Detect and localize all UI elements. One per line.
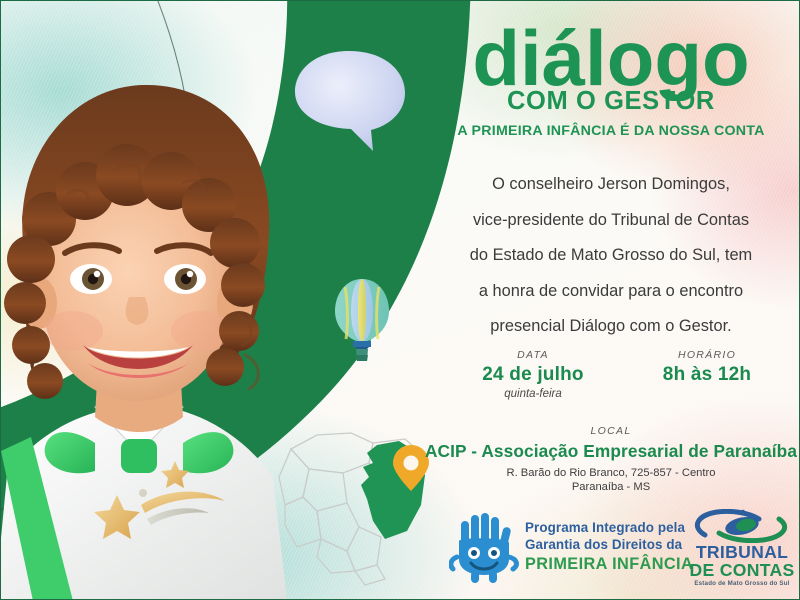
place-address-line2: Paranaíba - MS [421, 481, 800, 493]
title-tagline: A PRIMEIRA INFÂNCIA É DA NOSSA CONTA [421, 123, 800, 139]
event-place: LOCAL ACIP - Associação Empresarial de P… [421, 425, 800, 493]
body-line-3: do Estado de Mato Grosso do Sul, tem [423, 238, 799, 274]
tc-line-2: DE CONTAS [683, 561, 800, 579]
speech-bubble-icon [289, 45, 411, 153]
shooting-star-icon [53, 453, 243, 561]
blue-hand-mascot-icon [449, 513, 519, 583]
tc-emblem-icon [683, 509, 800, 543]
invitation-poster: diálogo COM O GESTOR A PRIMEIRA INFÂNCIA… [0, 0, 800, 600]
program-line-1: Programa Integrado pela [525, 519, 695, 536]
title-block: diálogo COM O GESTOR A PRIMEIRA INFÂNCIA… [421, 19, 800, 139]
body-line-2: vice-presidente do Tribunal de Contas [423, 203, 799, 239]
tc-line-3: Estado de Mato Grosso do Sul [683, 580, 800, 587]
primeira-infancia-logo: Programa Integrado pela Garantia dos Dir… [449, 511, 679, 585]
program-logo-text: Programa Integrado pela Garantia dos Dir… [525, 519, 695, 574]
tc-line-1: TRIBUNAL [683, 543, 800, 561]
body-line-5: presencial Diálogo com o Gestor. [423, 309, 799, 345]
tribunal-de-contas-logo: TRIBUNAL DE CONTAS Estado de Mato Grosso… [683, 509, 800, 585]
body-line-1: O conselheiro Jerson Domingos, [423, 167, 799, 203]
time-label: HORÁRIO [617, 349, 797, 361]
place-label: LOCAL [421, 425, 800, 437]
program-line-2: Garantia dos Direitos da [525, 536, 695, 553]
program-line-3: PRIMEIRA INFÂNCIA [525, 554, 695, 574]
date-weekday: quinta-feira [443, 388, 623, 400]
body-line-4: a honra de convidar para o encontro [423, 274, 799, 310]
event-date-block: DATA 24 de julho quinta-feira [443, 349, 623, 400]
date-value: 24 de julho [443, 364, 623, 386]
hot-air-balloon-icon [331, 277, 393, 363]
place-name: ACIP - Associação Empresarial de Paranaí… [421, 441, 800, 462]
time-value: 8h às 12h [617, 364, 797, 386]
footer-logos: Programa Integrado pela Garantia dos Dir… [421, 509, 800, 587]
date-label: DATA [443, 349, 623, 361]
content-column: diálogo COM O GESTOR A PRIMEIRA INFÂNCIA… [421, 1, 800, 600]
invitation-body: O conselheiro Jerson Domingos, vice-pres… [423, 167, 799, 345]
event-time-block: HORÁRIO 8h às 12h [617, 349, 797, 386]
place-address-line1: R. Barão do Rio Branco, 725-857 - Centro [421, 467, 800, 479]
